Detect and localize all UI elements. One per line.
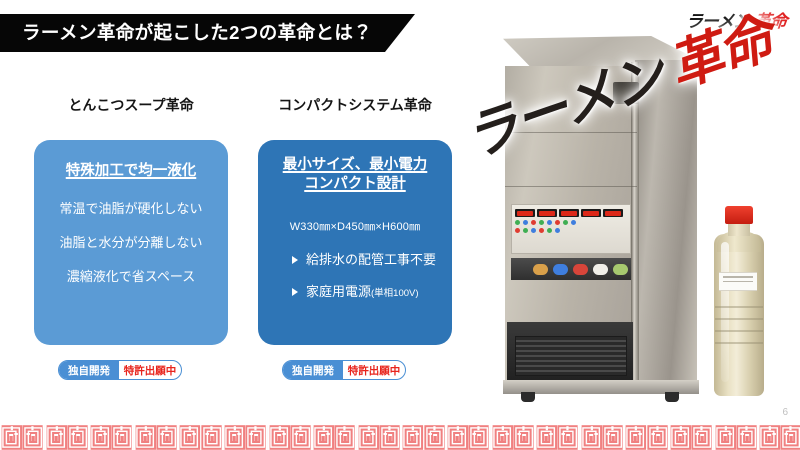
control-button-green — [547, 228, 552, 233]
border-motif — [557, 425, 579, 450]
machine-control-panel — [511, 204, 631, 254]
border-motif — [446, 425, 468, 450]
bottle-image — [711, 206, 769, 398]
control-button-green — [539, 220, 544, 225]
bullet-power-main: 家庭用電源 — [306, 284, 371, 299]
machine-image — [495, 36, 700, 396]
switch-orange — [533, 264, 548, 275]
border-motif — [334, 425, 356, 450]
control-button-blue — [571, 220, 576, 225]
border-motif — [669, 425, 691, 450]
border-motif — [111, 425, 133, 450]
switch-red — [573, 264, 588, 275]
switch-white — [593, 264, 608, 275]
badge-compact-patent: 特許出願中 — [343, 363, 405, 378]
led-display — [537, 209, 557, 217]
border-motif — [602, 425, 624, 450]
machine-seam-line — [505, 132, 637, 133]
panel-compact-lead: 最小サイズ、最小電力 コンパクト設計 — [283, 156, 428, 194]
slide-canvas: ラーメン革命が起こした2つの革命とは？ ラーメン 革命 とんこつスープ革命 コン… — [0, 0, 800, 450]
triangle-bullet-icon — [292, 256, 298, 264]
bottle-neck — [728, 222, 750, 236]
border-motif — [357, 425, 379, 450]
bullet-item-power: 家庭用電源(単相100V) — [266, 285, 444, 299]
led-display — [515, 209, 535, 217]
badge-compact-original: 独自開発 — [283, 361, 343, 379]
border-motif — [201, 425, 223, 450]
control-button-blue — [547, 220, 552, 225]
page-title: ラーメン革命が起こした2つの革命とは？ — [22, 24, 372, 43]
bullet-item-plumbing: 給排水の配管工事不要 — [266, 253, 444, 266]
bottle-rib — [715, 306, 763, 308]
switch-blue — [553, 264, 568, 275]
border-motif — [491, 425, 513, 450]
border-motif — [45, 425, 67, 450]
border-motif — [0, 425, 22, 450]
machine-hinge — [613, 82, 639, 104]
control-button-red — [531, 220, 536, 225]
panel-tonkotsu-line-1: 常温で油脂が硬化しない — [59, 202, 202, 215]
panel-tonkotsu-line-2: 油脂と水分が分離しない — [59, 236, 202, 249]
border-motif — [714, 425, 736, 450]
machine-side-face — [635, 60, 697, 380]
bottle-label — [719, 272, 757, 291]
control-button-red — [555, 220, 560, 225]
border-motif — [134, 425, 156, 450]
bottle-rib — [715, 318, 763, 320]
control-button-red — [515, 228, 520, 233]
badge-tonkotsu: 独自開発 特許出願中 — [58, 360, 182, 380]
control-button-blue — [531, 228, 536, 233]
border-motif — [312, 425, 334, 450]
bullet-power-note: (単相100V) — [371, 288, 419, 299]
border-motif — [178, 425, 200, 450]
panel-compact-lead-line2: コンパクト設計 — [283, 175, 428, 194]
switch-green — [613, 264, 628, 275]
bullet-power-label: 家庭用電源(単相100V) — [306, 285, 419, 299]
machine-seam-line — [505, 186, 637, 187]
product-photo: ラーメン 革命 — [455, 18, 800, 410]
page-number: 6 — [782, 408, 788, 418]
badge-tonkotsu-original: 独自開発 — [59, 361, 119, 379]
control-button-row — [515, 220, 627, 225]
machine-foot — [665, 392, 679, 402]
border-motif — [22, 425, 44, 450]
border-motif — [736, 425, 758, 450]
column-heading-tonkotsu: とんこつスープ革命 — [34, 98, 228, 112]
control-button-blue — [523, 220, 528, 225]
border-motif — [401, 425, 423, 450]
border-motif — [580, 425, 602, 450]
machine-foot — [521, 392, 535, 402]
border-motif — [780, 425, 800, 450]
bottle-rib — [715, 342, 763, 344]
badge-compact: 独自開発 特許出願中 — [282, 360, 406, 380]
machine-switch-bar — [511, 258, 631, 280]
column-heading-compact: コンパクトシステム革命 — [258, 98, 452, 112]
border-motif — [647, 425, 669, 450]
led-display — [559, 209, 579, 217]
border-motif — [290, 425, 312, 450]
panel-tonkotsu-lead: 特殊加工で均一液化 — [66, 162, 197, 181]
border-motif — [268, 425, 290, 450]
bottle-cap — [725, 206, 753, 224]
panel-compact: 最小サイズ、最小電力 コンパクト設計 W330㎜×D450㎜×H600㎜ 給排水… — [258, 140, 452, 345]
title-banner: ラーメン革命が起こした2つの革命とは？ — [0, 14, 415, 52]
border-motif — [468, 425, 490, 450]
bullet-plumbing-label: 給排水の配管工事不要 — [306, 253, 436, 266]
bottle-highlight — [721, 242, 729, 382]
panel-compact-dimensions: W330㎜×D450㎜×H600㎜ — [290, 218, 421, 234]
machine-drip-tray — [515, 336, 627, 376]
border-motif — [245, 425, 267, 450]
control-button-blue — [555, 228, 560, 233]
panel-tonkotsu-line-3: 濃縮液化で省スペース — [67, 270, 195, 283]
border-motif — [624, 425, 646, 450]
border-motif — [89, 425, 111, 450]
panel-tonkotsu: 特殊加工で均一液化 常温で油脂が硬化しない 油脂と水分が分離しない 濃縮液化で省… — [34, 140, 228, 345]
control-button-red — [539, 228, 544, 233]
control-button-green — [523, 228, 528, 233]
bottle-rib — [715, 330, 763, 332]
border-motif — [223, 425, 245, 450]
triangle-bullet-icon — [292, 288, 298, 296]
panel-compact-lead-line1: 最小サイズ、最小電力 — [283, 156, 428, 175]
control-button-row — [515, 228, 627, 233]
badge-tonkotsu-patent: 特許出願中 — [119, 363, 181, 378]
control-button-green — [515, 220, 520, 225]
border-motif — [758, 425, 780, 450]
decorative-border — [0, 425, 800, 450]
led-display — [603, 209, 623, 217]
control-button-green — [563, 220, 568, 225]
border-motif — [691, 425, 713, 450]
border-motif — [513, 425, 535, 450]
border-motif — [535, 425, 557, 450]
border-motif — [67, 425, 89, 450]
border-motif — [424, 425, 446, 450]
border-motif — [156, 425, 178, 450]
led-display — [581, 209, 601, 217]
border-motif — [379, 425, 401, 450]
